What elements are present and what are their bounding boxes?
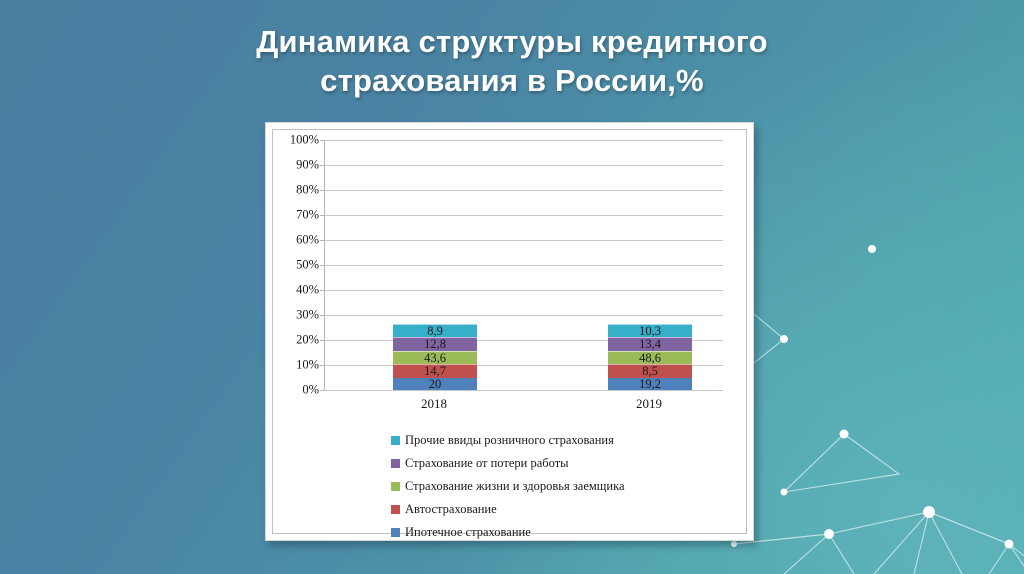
legend-item[interactable]: Страхование от потери работы [391, 452, 741, 475]
legend-item-label: Ипотечное страхование [405, 525, 531, 540]
bar-segment-label: 12,8 [424, 338, 446, 351]
stacked-bar-2019[interactable]: 19,2 8,5 48,6 13,4 10,3 [608, 324, 692, 391]
y-axis-tick-label: 30% [275, 308, 319, 323]
legend-color-swatch [391, 482, 400, 491]
bar-segment-label: 8,5 [642, 365, 658, 378]
y-axis-tick-label: 70% [275, 208, 319, 223]
y-axis-tick-label: 100% [275, 133, 319, 148]
bar-segment[interactable]: 13,4 [608, 337, 692, 351]
axis-tick [320, 265, 325, 266]
bar-segment[interactable]: 10,3 [608, 324, 692, 338]
axis-tick [320, 165, 325, 166]
gridline [325, 140, 723, 141]
bar-segment[interactable]: 20 [393, 378, 477, 391]
page-title: Динамика структуры кредитного страховани… [0, 22, 1024, 100]
y-axis-tick-label: 0% [275, 383, 319, 398]
bar-segment-label: 8,9 [427, 325, 443, 338]
slide: Динамика структуры кредитного страховани… [0, 0, 1024, 574]
axis-tick [320, 390, 325, 391]
bar-segment-label: 43,6 [424, 352, 446, 365]
bar-segment-label: 48,6 [639, 352, 661, 365]
y-axis-tick-label: 20% [275, 333, 319, 348]
y-axis-tick-label: 10% [275, 358, 319, 373]
legend-item[interactable]: Страхование жизни и здоровья заемщика [391, 475, 741, 498]
chart-legend: Прочие ввиды розничного страхования Стра… [391, 429, 741, 544]
bar-segment[interactable]: 43,6 [393, 351, 477, 365]
y-axis-tick-label: 50% [275, 258, 319, 273]
legend-color-swatch [391, 436, 400, 445]
x-axis-labels: 2018 2019 [324, 396, 722, 416]
bar-segment[interactable]: 8,9 [393, 324, 477, 338]
legend-item[interactable]: Прочие ввиды розничного страхования [391, 429, 741, 452]
bar-segment-label: 20 [429, 378, 442, 391]
bar-segment[interactable]: 8,5 [608, 364, 692, 378]
axis-tick [320, 190, 325, 191]
legend-item-label: Страхование жизни и здоровья заемщика [405, 479, 625, 494]
y-axis-tick-label: 40% [275, 283, 319, 298]
bar-segment[interactable]: 12,8 [393, 337, 477, 351]
axis-tick [320, 365, 325, 366]
y-axis-labels: 100% 90% 80% 70% 60% 50% 40% 30% 20% 10%… [275, 140, 319, 390]
gridline [325, 215, 723, 216]
legend-item-label: Автострахование [405, 502, 497, 517]
legend-item-label: Страхование от потери работы [405, 456, 569, 471]
gridline [325, 190, 723, 191]
x-axis-tick-label: 2019 [594, 396, 704, 412]
legend-color-swatch [391, 528, 400, 537]
legend-color-swatch [391, 505, 400, 514]
y-axis-tick-label: 60% [275, 233, 319, 248]
legend-item[interactable]: Ипотечное страхование [391, 521, 741, 544]
plot-area: 20 14,7 43,6 12,8 8,9 [324, 140, 723, 390]
y-axis-tick-label: 80% [275, 183, 319, 198]
bar-segment[interactable]: 14,7 [393, 364, 477, 378]
bar-segment-label: 14,7 [424, 365, 446, 378]
plot-wrapper: 100% 90% 80% 70% 60% 50% 40% 30% 20% 10%… [273, 130, 750, 420]
bar-segment[interactable]: 19,2 [608, 378, 692, 391]
bar-segment-label: 10,3 [639, 325, 661, 338]
stacked-bar-2018[interactable]: 20 14,7 43,6 12,8 8,9 [393, 324, 477, 391]
x-axis-tick-label: 2018 [379, 396, 489, 412]
gridline [325, 290, 723, 291]
axis-tick [320, 290, 325, 291]
chart-panel: 100% 90% 80% 70% 60% 50% 40% 30% 20% 10%… [265, 122, 754, 541]
gridline [325, 390, 723, 391]
legend-item[interactable]: Автострахование [391, 498, 741, 521]
y-axis-tick-label: 90% [275, 158, 319, 173]
axis-tick [320, 240, 325, 241]
axis-tick [320, 340, 325, 341]
gridline [325, 265, 723, 266]
gridline [325, 165, 723, 166]
bar-segment[interactable]: 48,6 [608, 351, 692, 365]
network-constellation-decoration [724, 244, 1024, 574]
gridline [325, 240, 723, 241]
legend-item-label: Прочие ввиды розничного страхования [405, 433, 614, 448]
axis-tick [320, 140, 325, 141]
legend-color-swatch [391, 459, 400, 468]
axis-tick [320, 315, 325, 316]
bar-segment-label: 13,4 [639, 338, 661, 351]
chart-inner-frame: 100% 90% 80% 70% 60% 50% 40% 30% 20% 10%… [272, 129, 747, 534]
gridline [325, 315, 723, 316]
axis-tick [320, 215, 325, 216]
bar-segment-label: 19,2 [639, 378, 661, 391]
